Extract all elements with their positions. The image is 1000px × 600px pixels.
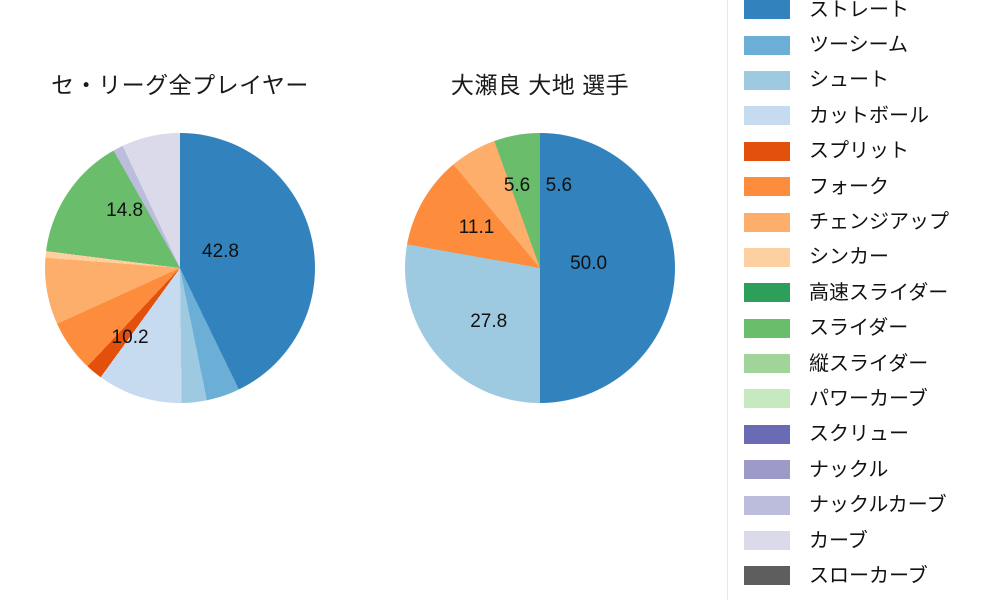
- pie-value-label: 11.1: [459, 217, 495, 239]
- legend-item-label: スライダー: [809, 318, 908, 338]
- legend-color-swatch-icon: [744, 106, 790, 125]
- legend-color-swatch-icon: [744, 566, 790, 585]
- legend-item[interactable]: パワーカーブ: [728, 381, 1000, 416]
- legend-color-swatch-icon: [744, 142, 790, 161]
- legend-item-label: 縦スライダー: [809, 354, 928, 374]
- league-pie-panel: セ・リーグ全プレイヤー 42.810.214.8: [0, 0, 360, 600]
- legend-item-label: 高速スライダー: [809, 283, 948, 303]
- pie-value-label: 5.6: [546, 175, 572, 197]
- pie-value-label: 10.2: [112, 327, 149, 349]
- legend-item[interactable]: 縦スライダー: [728, 346, 1000, 381]
- legend-item[interactable]: スプリット: [728, 134, 1000, 169]
- legend-color-swatch-icon: [744, 425, 790, 444]
- legend-item[interactable]: 高速スライダー: [728, 275, 1000, 310]
- legend-color-swatch-icon: [744, 36, 790, 55]
- legend-item-label: ナックル: [809, 460, 888, 480]
- legend-list: ストレートツーシームシュートカットボールスプリットフォークチェンジアップシンカー…: [728, 0, 1000, 594]
- legend-item[interactable]: カーブ: [728, 523, 1000, 558]
- legend-color-swatch-icon: [744, 389, 790, 408]
- legend-item[interactable]: スクリュー: [728, 417, 1000, 452]
- legend-item[interactable]: カットボール: [728, 98, 1000, 133]
- legend-item-label: ストレート: [809, 0, 909, 20]
- legend-item-label: シュート: [809, 70, 889, 90]
- legend-item[interactable]: シュート: [728, 63, 1000, 98]
- legend-color-swatch-icon: [744, 531, 790, 550]
- legend-color-swatch-icon: [744, 71, 790, 90]
- legend-item[interactable]: フォーク: [728, 169, 1000, 204]
- legend-item[interactable]: スローカーブ: [728, 558, 1000, 593]
- player-pie-title: 大瀬良 大地 選手: [360, 66, 720, 100]
- pie-value-label: 27.8: [470, 311, 507, 333]
- legend-item[interactable]: ツーシーム: [728, 27, 1000, 62]
- legend-item[interactable]: ナックル: [728, 452, 1000, 487]
- legend-item-label: カットボール: [809, 106, 929, 126]
- legend-color-swatch-icon: [744, 460, 790, 479]
- legend-item-label: シンカー: [809, 247, 889, 267]
- legend-item-label: チェンジアップ: [809, 212, 949, 232]
- legend-item-label: パワーカーブ: [809, 389, 928, 409]
- league-pie-slices: [45, 133, 315, 403]
- legend-color-swatch-icon: [744, 213, 790, 232]
- legend-color-swatch-icon: [744, 354, 790, 373]
- pie-value-label: 50.0: [570, 253, 607, 275]
- legend-color-swatch-icon: [744, 177, 790, 196]
- player-pie-slices: [405, 133, 675, 403]
- legend-item-label: カーブ: [809, 531, 868, 551]
- legend-item-label: ナックルカーブ: [809, 495, 947, 515]
- pitch-type-legend: ストレートツーシームシュートカットボールスプリットフォークチェンジアップシンカー…: [727, 0, 1000, 600]
- legend-color-swatch-icon: [744, 319, 790, 338]
- legend-item-label: スプリット: [809, 141, 909, 161]
- legend-item-label: スローカーブ: [809, 566, 928, 586]
- pitch-type-pie-charts-figure: セ・リーグ全プレイヤー 42.810.214.8 大瀬良 大地 選手 50.02…: [0, 0, 1000, 600]
- player-pie-panel: 大瀬良 大地 選手 50.027.811.15.65.6: [360, 0, 720, 600]
- legend-item[interactable]: チェンジアップ: [728, 204, 1000, 239]
- player-pie-chart: 50.027.811.15.65.6: [405, 133, 675, 403]
- pie-value-label: 5.6: [504, 175, 530, 197]
- legend-color-swatch-icon: [744, 248, 790, 267]
- legend-item[interactable]: スライダー: [728, 311, 1000, 346]
- pie-value-label: 14.8: [106, 200, 143, 222]
- legend-color-swatch-icon: [744, 496, 790, 515]
- legend-color-swatch-icon: [744, 283, 790, 302]
- legend-item[interactable]: ストレート: [728, 0, 1000, 27]
- legend-color-swatch-icon: [744, 0, 790, 19]
- legend-item-label: スクリュー: [809, 424, 909, 444]
- legend-item-label: ツーシーム: [809, 35, 908, 55]
- legend-item-label: フォーク: [809, 177, 889, 197]
- league-pie-title: セ・リーグ全プレイヤー: [0, 66, 360, 100]
- league-pie-chart: 42.810.214.8: [45, 133, 315, 403]
- legend-item[interactable]: ナックルカーブ: [728, 487, 1000, 522]
- legend-item[interactable]: シンカー: [728, 240, 1000, 275]
- pie-value-label: 42.8: [202, 241, 239, 263]
